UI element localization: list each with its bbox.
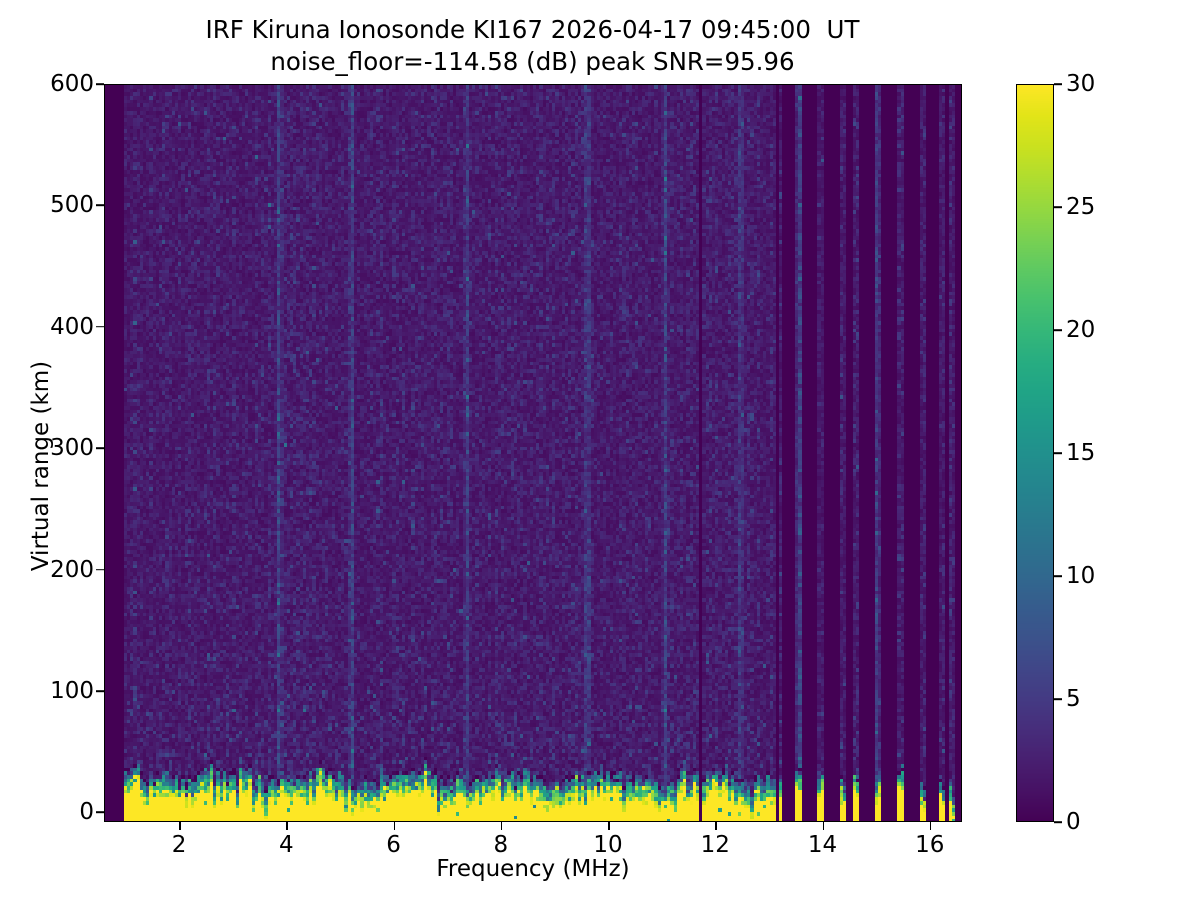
- colorbar-tick-mark: [1054, 83, 1062, 85]
- colorbar-axes: [1016, 84, 1054, 822]
- y-axis-tick-mark: [96, 811, 104, 813]
- y-axis-tick-mark: [96, 690, 104, 692]
- x-axis-tick-label: 14: [783, 832, 863, 858]
- colorbar-tick-mark: [1054, 206, 1062, 208]
- title-line-primary: IRF Kiruna Ionosonde KI167 2026-04-17 09…: [0, 14, 1065, 46]
- colorbar-tick-label: 25: [1066, 194, 1126, 220]
- colorbar-tick-mark: [1054, 452, 1062, 454]
- y-axis-tick-mark: [96, 83, 104, 85]
- x-axis-tick-mark: [823, 822, 825, 830]
- colorbar-tick-mark: [1054, 698, 1062, 700]
- x-axis-tick-mark: [394, 822, 396, 830]
- y-axis-tick-mark: [96, 326, 104, 328]
- x-axis-tick-label: 6: [354, 832, 434, 858]
- y-axis-tick-label: 200: [24, 557, 94, 583]
- colorbar-tick-label: 15: [1066, 440, 1126, 466]
- x-axis-tick-mark: [286, 822, 288, 830]
- colorbar-tick-label: 30: [1066, 71, 1126, 97]
- x-axis-tick-mark: [501, 822, 503, 830]
- y-axis-tick-label: 0: [24, 799, 94, 825]
- y-axis-tick-label: 600: [24, 71, 94, 97]
- ionogram-heatmap: [105, 85, 962, 822]
- colorbar-tick-mark: [1054, 329, 1062, 331]
- x-axis-tick-mark: [715, 822, 717, 830]
- x-axis-tick-label: 4: [246, 832, 326, 858]
- y-axis-tick-mark: [96, 205, 104, 207]
- x-axis-tick-label: 12: [675, 832, 755, 858]
- y-axis-tick-label: 300: [24, 435, 94, 461]
- y-axis-tick-label: 100: [24, 678, 94, 704]
- y-axis-tick-label: 500: [24, 192, 94, 218]
- colorbar-tick-mark: [1054, 821, 1062, 823]
- y-axis-tick-mark: [96, 569, 104, 571]
- colorbar-tick-label: 5: [1066, 686, 1126, 712]
- colorbar-gradient: [1017, 85, 1054, 822]
- x-axis-tick-label: 16: [890, 832, 970, 858]
- x-axis-label: Frequency (MHz): [104, 856, 962, 882]
- colorbar-tick-mark: [1054, 575, 1062, 577]
- x-axis-tick-label: 10: [568, 832, 648, 858]
- y-axis-tick-mark: [96, 447, 104, 449]
- ionogram-plot-axes: [104, 84, 962, 822]
- x-axis-tick-label: 8: [461, 832, 541, 858]
- x-axis-tick-mark: [930, 822, 932, 830]
- x-axis-tick-label: 2: [139, 832, 219, 858]
- x-axis-tick-mark: [608, 822, 610, 830]
- colorbar-tick-label: 10: [1066, 563, 1126, 589]
- figure-title-block: IRF Kiruna Ionosonde KI167 2026-04-17 09…: [0, 14, 1065, 78]
- x-axis-tick-mark: [179, 822, 181, 830]
- y-axis-tick-label: 400: [24, 314, 94, 340]
- ionogram-figure: IRF Kiruna Ionosonde KI167 2026-04-17 09…: [0, 0, 1200, 900]
- colorbar-tick-label: 20: [1066, 317, 1126, 343]
- title-line-secondary: noise_floor=-114.58 (dB) peak SNR=95.96: [0, 46, 1065, 78]
- colorbar-tick-label: 0: [1066, 809, 1126, 835]
